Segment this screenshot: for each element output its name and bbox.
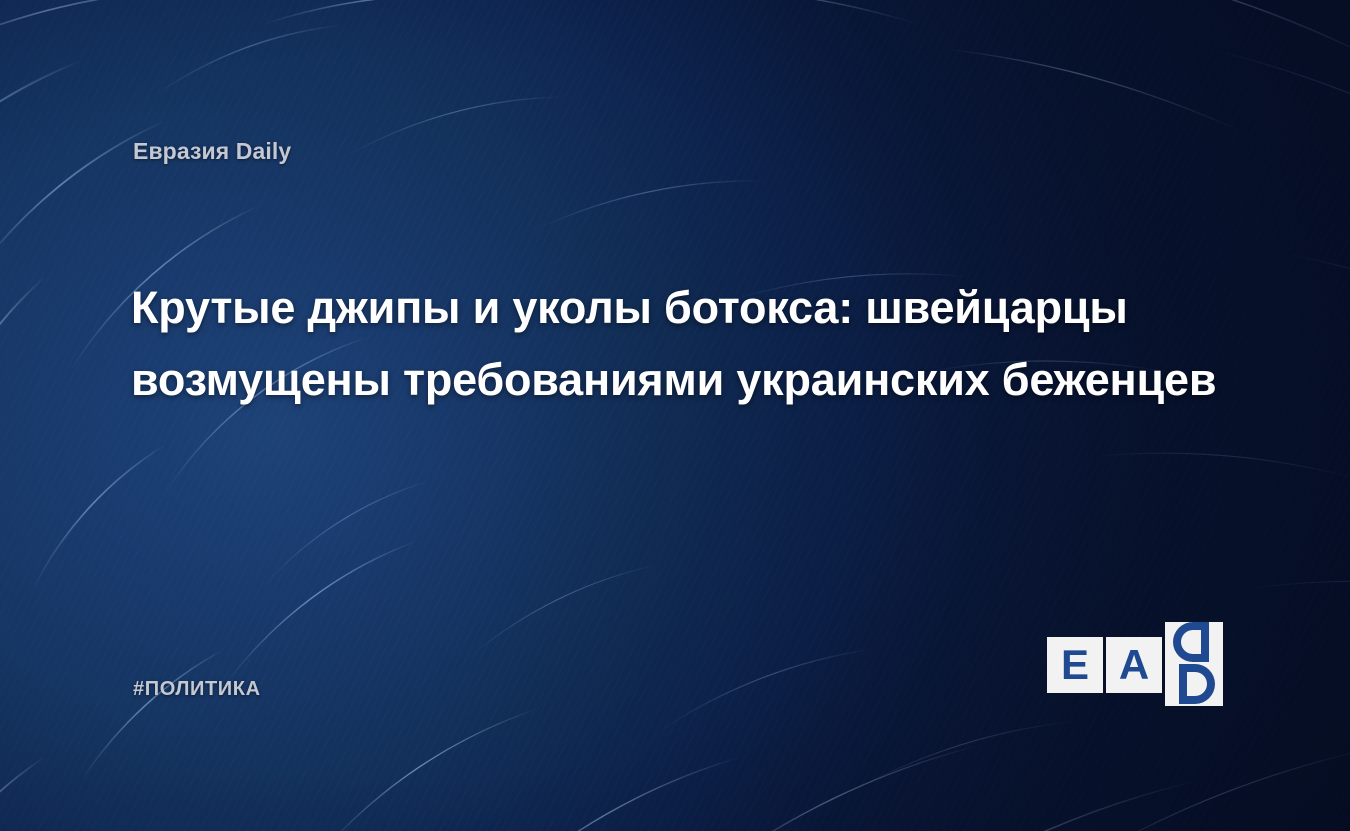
logo-letter-d [1165, 622, 1223, 706]
logo-letter-a: A [1106, 637, 1162, 693]
logo-letter-e: E [1047, 637, 1103, 693]
logo-d-half-bottom [1165, 664, 1223, 706]
page-title: Крутые джипы и уколы ботокса: швейцарцы … [131, 272, 1221, 416]
logo-d-half-top [1165, 622, 1223, 664]
ead-logo: E A [1047, 622, 1223, 706]
site-brand: Евразия Daily [133, 138, 291, 165]
card-content: Евразия Daily Крутые джипы и уколы боток… [0, 0, 1350, 831]
news-share-card: Евразия Daily Крутые джипы и уколы боток… [0, 0, 1350, 831]
category-tag: #ПОЛИТИКА [133, 678, 261, 701]
